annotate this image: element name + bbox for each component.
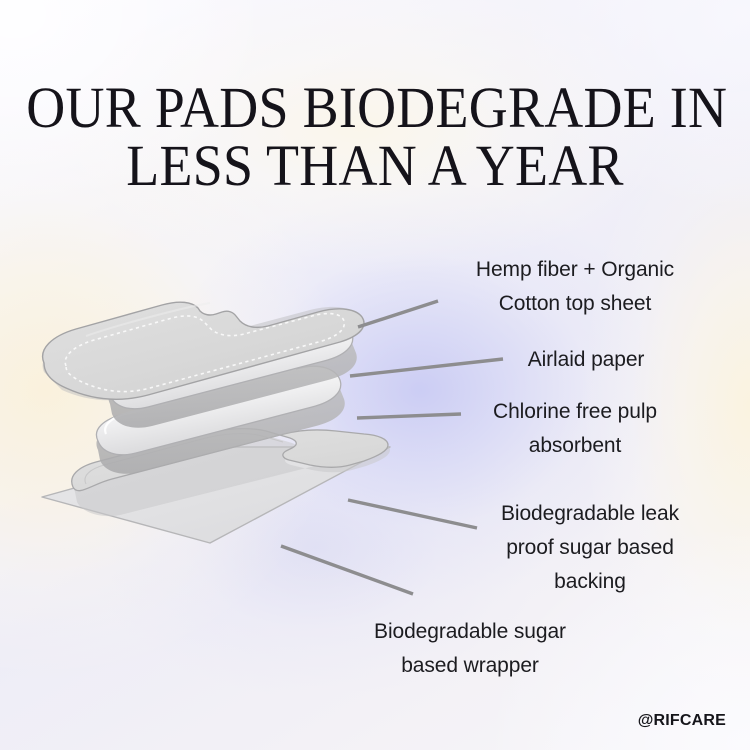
leader-line-topsheet <box>358 301 438 327</box>
callout-label-airlaid-paper: Airlaid paper <box>455 343 717 377</box>
infographic-canvas: OUR PADS BIODEGRADE IN LESS THAN A YEAR … <box>0 0 750 750</box>
callout-label-top-sheet: Hemp fiber + Organic Cotton top sheet <box>432 253 718 321</box>
callout-label-wrapper: Biodegradable sugar based wrapper <box>320 615 620 683</box>
brand-watermark: @RIFCARE <box>638 712 726 730</box>
callout-label-pulp-absorbent: Chlorine free pulp absorbent <box>432 395 718 463</box>
page-title-line-1: OUR PADS BIODEGRADE IN <box>26 79 724 136</box>
page-title: OUR PADS BIODEGRADE IN LESS THAN A YEAR <box>0 79 750 194</box>
page-title-line-2: LESS THAN A YEAR <box>26 137 724 194</box>
leader-line-wrapper <box>281 546 413 594</box>
callout-label-leak-proof-backing: Biodegradable leak proof sugar based bac… <box>450 497 730 599</box>
